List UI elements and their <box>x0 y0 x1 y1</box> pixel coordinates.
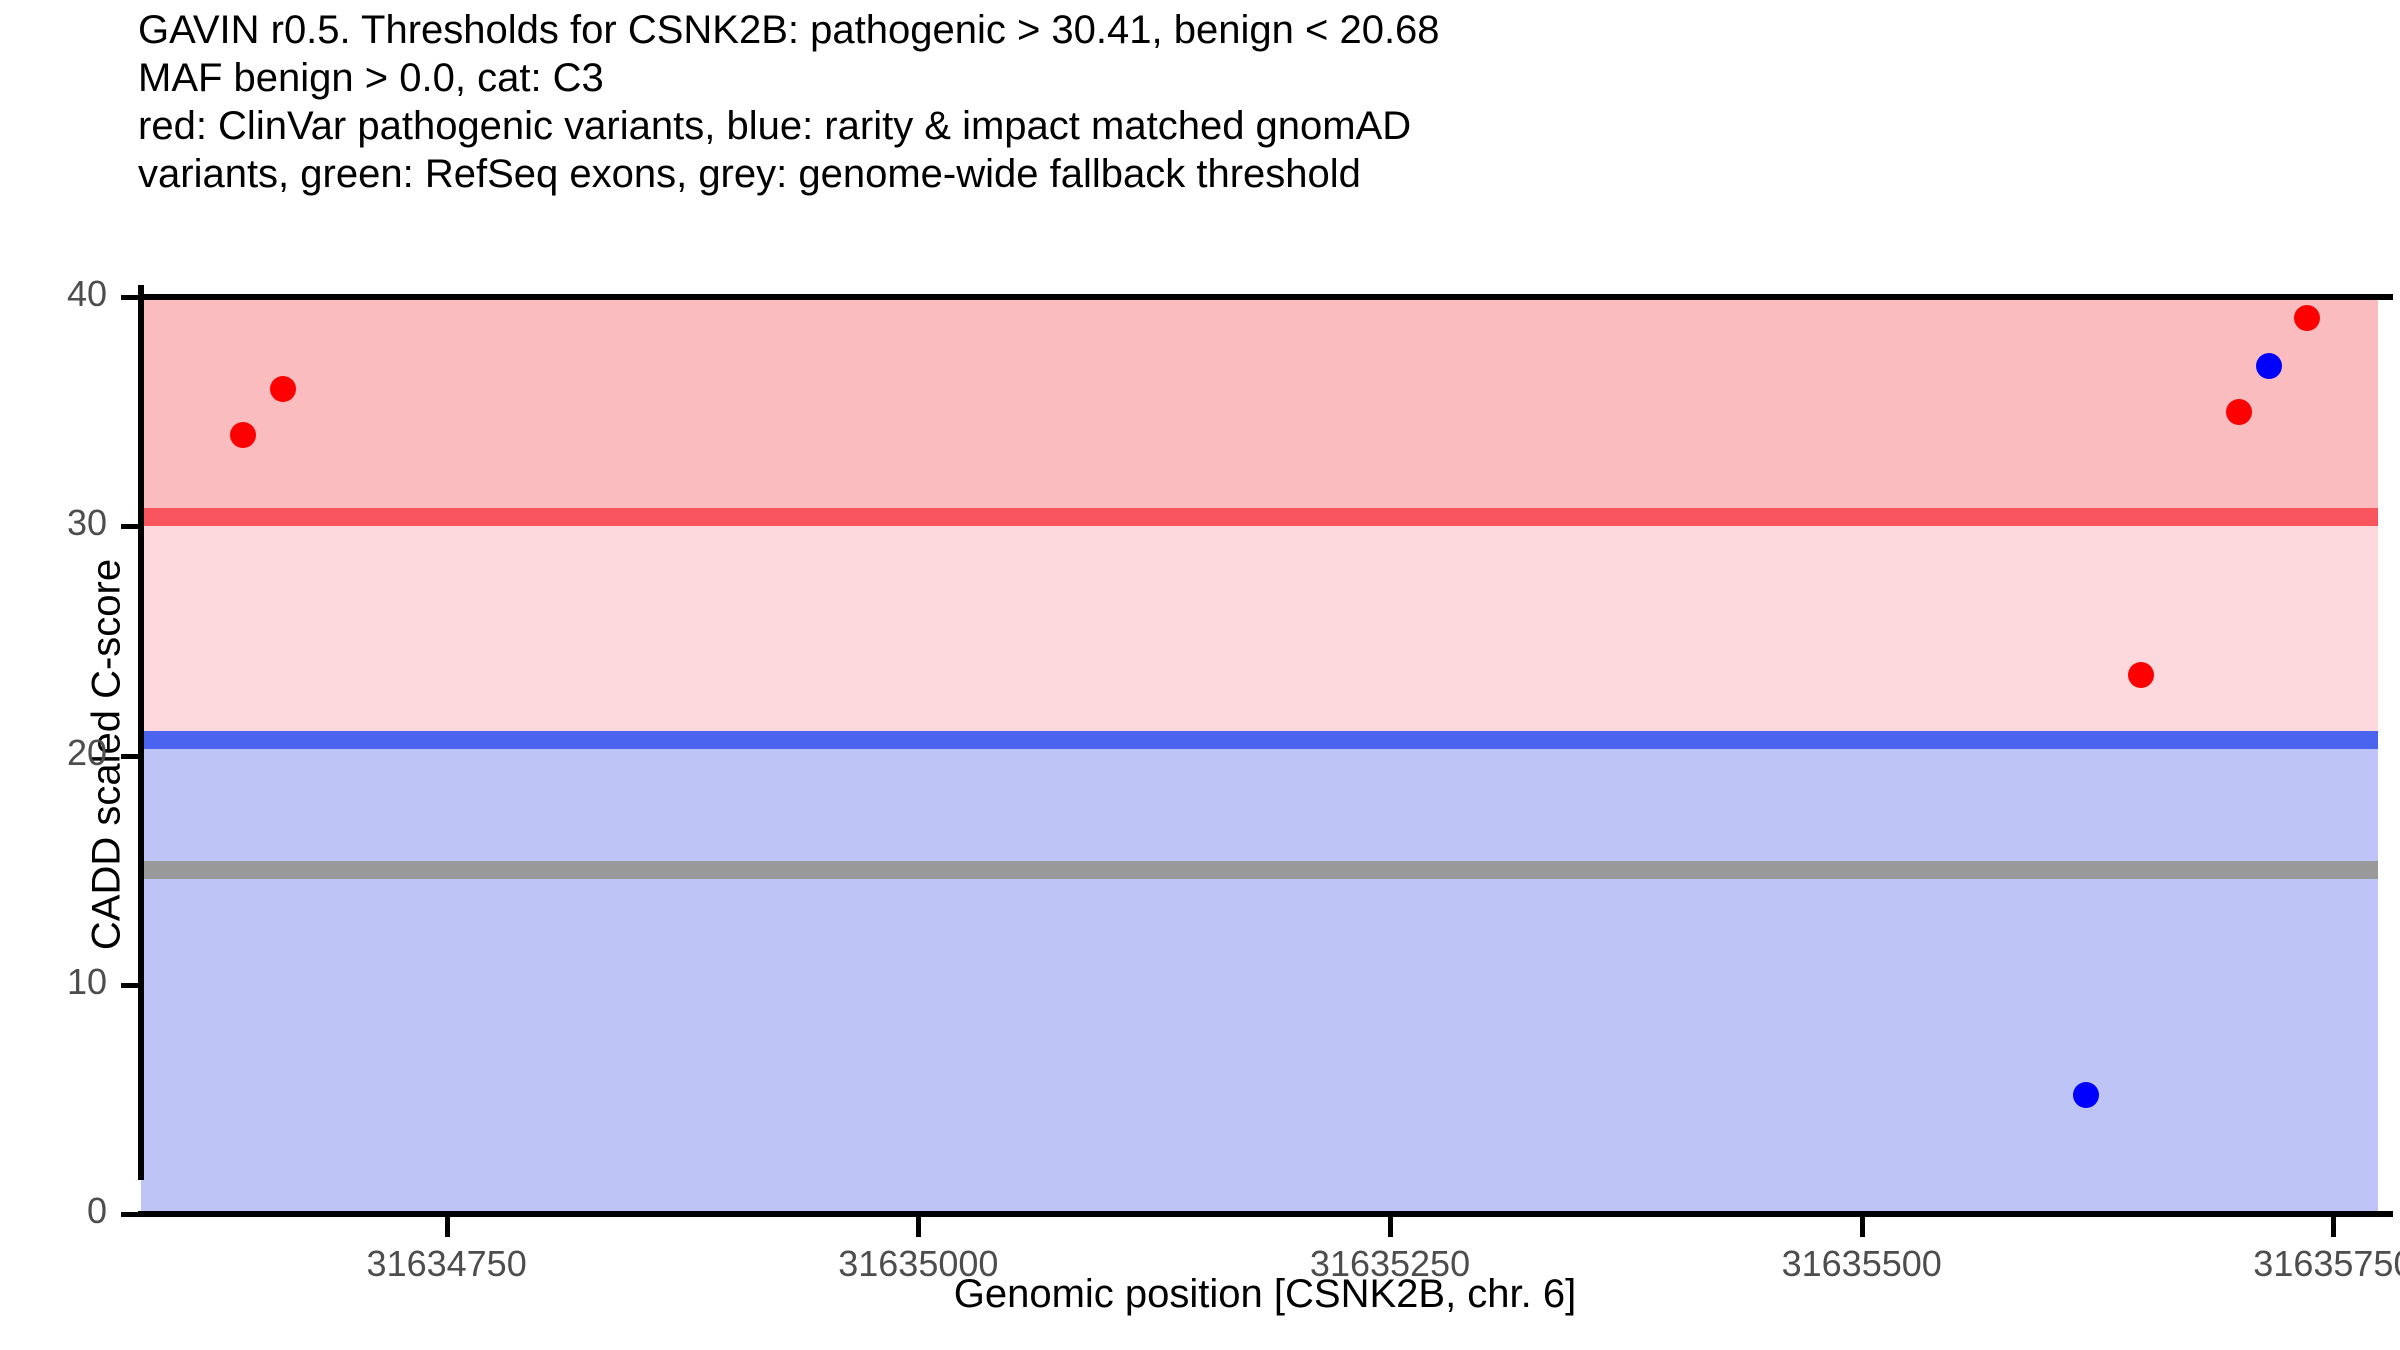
x-axis-tick <box>916 1217 921 1237</box>
data-point[interactable] <box>2294 305 2320 331</box>
y-axis-tick-label: 10 <box>0 961 107 1003</box>
data-point[interactable] <box>2073 1082 2099 1108</box>
x-axis-line <box>138 1211 2393 1217</box>
x-axis-tick <box>1860 1217 1865 1237</box>
y-axis-tick <box>121 754 141 759</box>
data-point[interactable] <box>2256 353 2282 379</box>
data-point[interactable] <box>230 422 256 448</box>
y-axis-tick-label: 0 <box>0 1190 107 1232</box>
y-axis-tick-label: 30 <box>0 502 107 544</box>
y-axis-tick-label: 20 <box>0 732 107 774</box>
x-axis-tick-label: 31635750 <box>2183 1243 2400 1285</box>
y-axis-tick <box>121 524 141 529</box>
genome-wide-fallback-line <box>141 861 2378 879</box>
x-axis-tick <box>445 1217 450 1237</box>
y-axis-tick-label: 40 <box>0 273 107 315</box>
x-axis-tick-label: 31635250 <box>1240 1243 1540 1285</box>
x-axis-tick-label: 31634750 <box>297 1243 597 1285</box>
vous-band <box>141 517 2378 740</box>
data-point[interactable] <box>270 376 296 402</box>
y-axis-line <box>138 285 144 1180</box>
y-axis-tick <box>121 983 141 988</box>
benign-band <box>141 740 2378 1214</box>
plot-panel <box>141 297 2390 1214</box>
x-axis-tick <box>1388 1217 1393 1237</box>
pathogenic-band <box>141 297 2378 517</box>
pathogenic-threshold-line <box>141 508 2378 526</box>
data-point[interactable] <box>2226 399 2252 425</box>
y-axis-tick <box>121 295 141 300</box>
x-axis-tick-label: 31635000 <box>768 1243 1068 1285</box>
data-point[interactable] <box>2128 662 2154 688</box>
x-axis-tick-label: 31635500 <box>1712 1243 2012 1285</box>
scatter-plot-figure: CADD scaled C-score Genomic position [CS… <box>0 0 2400 1350</box>
x-axis-tick <box>2331 1217 2336 1237</box>
benign-threshold-line <box>141 731 2378 749</box>
panel-top-border <box>141 294 2393 300</box>
y-axis-tick <box>121 1212 141 1217</box>
